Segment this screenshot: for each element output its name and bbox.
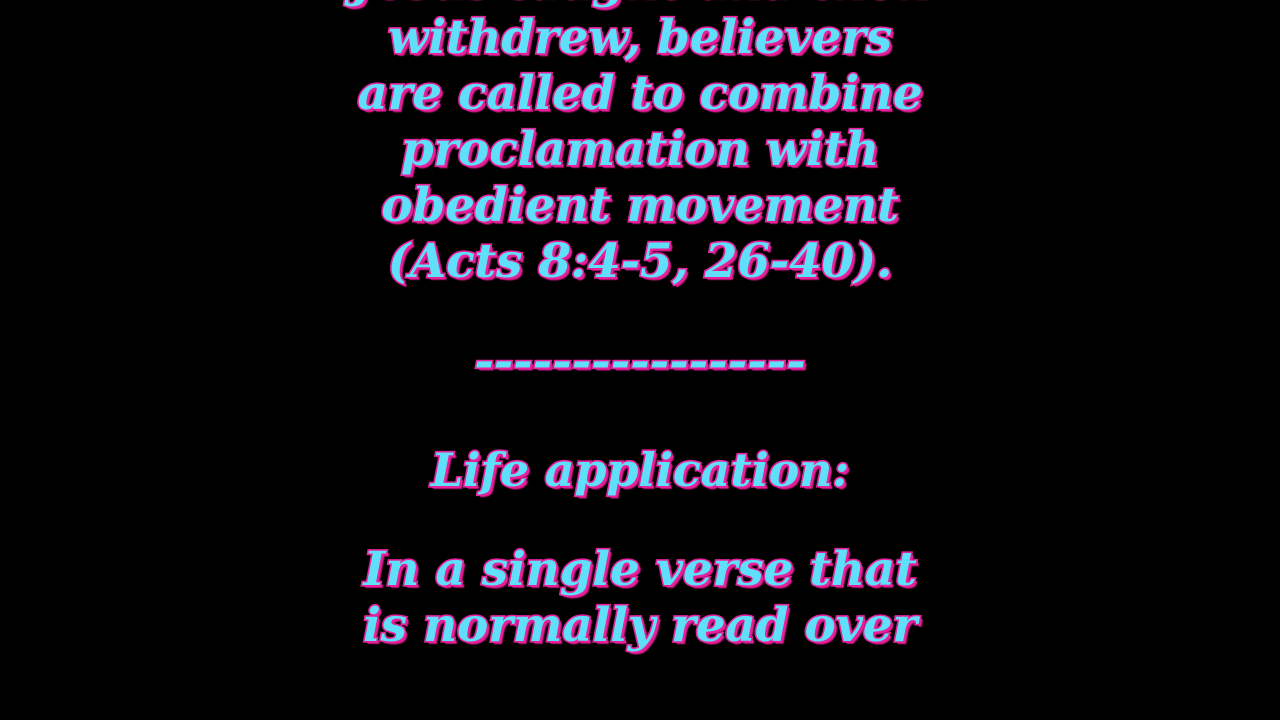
scripture-reference-line: (Acts 8:4-5, 26-40). — [0, 234, 1280, 290]
divider-row: ----------------- — [0, 334, 1280, 390]
body-line-2: withdrew, believers — [0, 10, 1280, 66]
section-heading: Life application: — [0, 442, 1280, 498]
spacer-after-heading — [0, 498, 1280, 542]
spacer-after-divider — [0, 390, 1280, 442]
body-line-3: are called to combine — [0, 66, 1280, 122]
scripture-text-block: Jesus taught and then withdrew, believer… — [0, 0, 1280, 654]
application-line-1: In a single verse that — [0, 542, 1280, 598]
section-divider: ----------------- — [474, 334, 806, 390]
spacer-before-divider — [0, 290, 1280, 334]
body-line-1: Jesus taught and then — [0, 0, 1280, 10]
slide-canvas: Jesus taught and then withdrew, believer… — [0, 0, 1280, 720]
application-line-2-clipped: is normally read over — [0, 598, 1280, 654]
body-line-4: proclamation with — [0, 122, 1280, 178]
body-line-5: obedient movement — [0, 178, 1280, 234]
